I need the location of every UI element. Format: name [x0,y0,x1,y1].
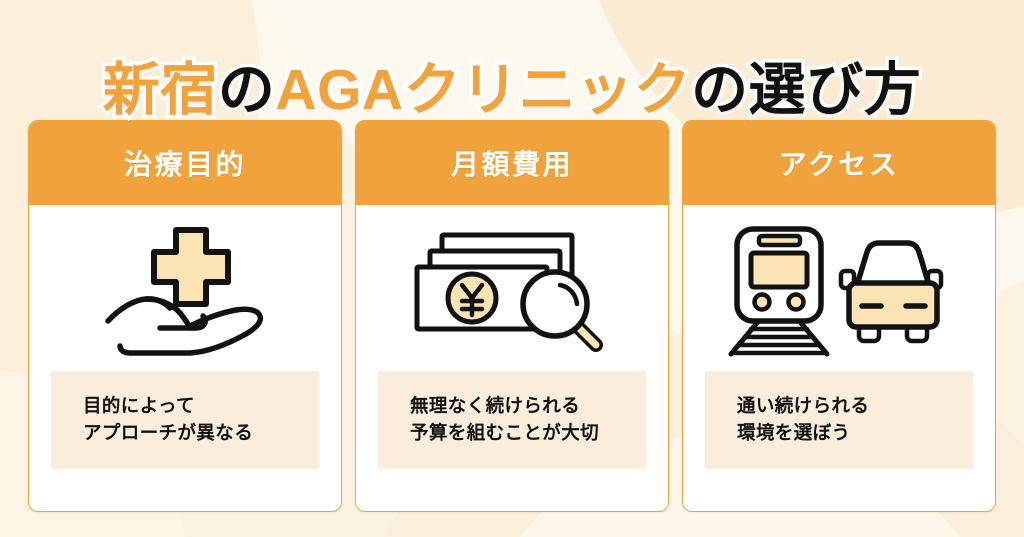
title-area: 新宿のAGAクリニックの選び方 [0,20,1024,162]
caption-line: 環境を選ぼう [737,420,963,447]
banknotes-yen-magnifier-icon [356,205,668,371]
card-treatment-purpose: 治療目的 目的によって アプローチが異なる [28,120,342,512]
train-and-car-icon [683,205,995,371]
caption-line: 目的によって [83,393,309,420]
caption-line: アプローチが異なる [83,420,309,447]
caption-line: 通い続けられる [737,393,963,420]
hand-with-medical-cross-icon [29,205,341,371]
title-segment-1: 新宿 [103,58,218,122]
card-caption-treatment-purpose: 目的によって アプローチが異なる [51,371,319,469]
title-segment-4: クリニック [404,58,692,122]
card-caption-monthly-cost: 無理なく続けられる 予算を組むことが大切 [378,371,646,469]
card-monthly-cost: 月額費用 [355,120,669,512]
card-access: アクセス [682,120,996,512]
title-segment-5: の選び方 [691,58,921,122]
page-title: 新宿のAGAクリニックの選び方 [103,58,921,124]
title-segment-3: AGA [275,58,403,122]
card-row: 治療目的 目的によって アプローチが異なる 月 [28,120,996,512]
caption-line: 無理なく続けられる [410,393,636,420]
infographic-canvas: 新宿のAGAクリニックの選び方 治療目的 目的によって [0,0,1024,537]
title-segment-2: の [218,58,276,122]
caption-line: 予算を組むことが大切 [410,420,636,447]
card-caption-access: 通い続けられる 環境を選ぼう [705,371,973,469]
